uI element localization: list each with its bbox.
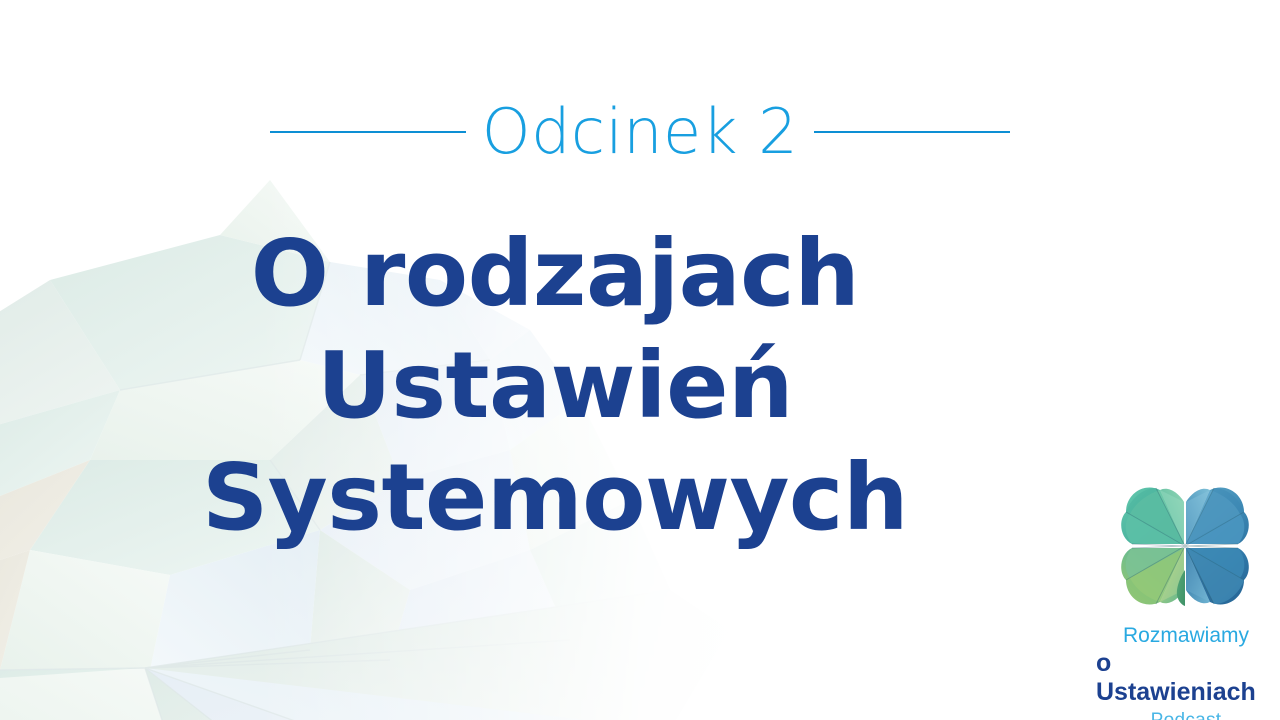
title-line-1: O rodzajach — [60, 218, 1050, 330]
page-title: O rodzajach Ustawień Systemowych — [60, 218, 1050, 555]
title-line-2: Ustawień — [60, 330, 1050, 442]
logo-text-rozmawiamy: Rozmawiamy — [1123, 624, 1249, 648]
title-line-3: Systemowych — [60, 442, 1050, 554]
episode-number-label: Odcinek 2 — [482, 101, 798, 163]
logo-text-o-ustawieniach: o Ustawieniach — [1096, 649, 1276, 707]
logo-text-podcast: Podcast — [1151, 710, 1222, 720]
eyebrow-rule-right — [814, 131, 1010, 133]
brand-logo: Rozmawiamy o Ustawieniach Podcast — [1096, 478, 1276, 700]
logo-podcast-row: Podcast — [1110, 710, 1263, 720]
episode-cover-slide: Odcinek 2 O rodzajach Ustawień Systemowy… — [0, 0, 1280, 720]
four-leaf-clover-icon — [1116, 478, 1256, 620]
eyebrow-rule-left — [270, 131, 466, 133]
episode-eyebrow: Odcinek 2 — [0, 96, 1280, 168]
